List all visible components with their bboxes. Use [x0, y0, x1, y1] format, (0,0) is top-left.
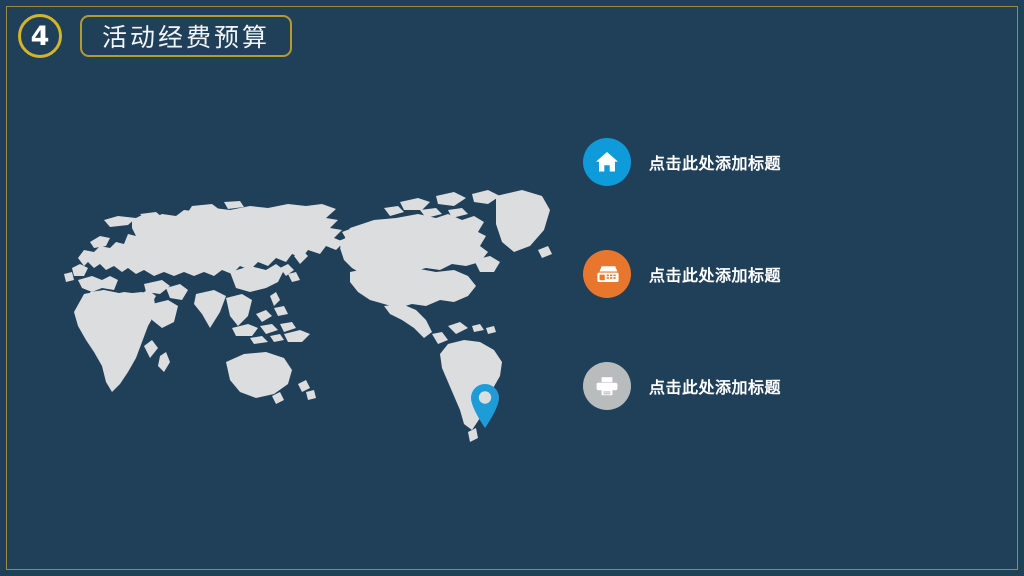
list-item[interactable]: 点击此处添加标题: [583, 362, 983, 410]
section-number-badge: 4: [18, 14, 62, 58]
list-item[interactable]: 点击此处添加标题: [583, 250, 983, 298]
home-icon: [594, 149, 620, 175]
map-pin-icon[interactable]: [471, 384, 499, 428]
fax-icon-circle[interactable]: [583, 250, 631, 298]
feature-list: 点击此处添加标题 点击此处添加标题: [583, 138, 983, 410]
page-title: 活动经费预算: [102, 18, 270, 54]
slide-header: 4 活动经费预算: [18, 12, 292, 60]
list-item-label: 点击此处添加标题: [649, 262, 781, 286]
fax-icon: [594, 261, 620, 287]
printer-icon: [594, 373, 620, 399]
printer-icon-circle[interactable]: [583, 362, 631, 410]
section-number-text: 4: [31, 23, 50, 50]
list-item-label: 点击此处添加标题: [649, 150, 781, 174]
list-item-label: 点击此处添加标题: [649, 374, 781, 398]
home-icon-circle[interactable]: [583, 138, 631, 186]
slide-canvas: 4 活动经费预算: [0, 0, 1024, 576]
world-map: [44, 176, 560, 448]
list-item[interactable]: 点击此处添加标题: [583, 138, 983, 186]
page-title-box: 活动经费预算: [80, 15, 292, 57]
